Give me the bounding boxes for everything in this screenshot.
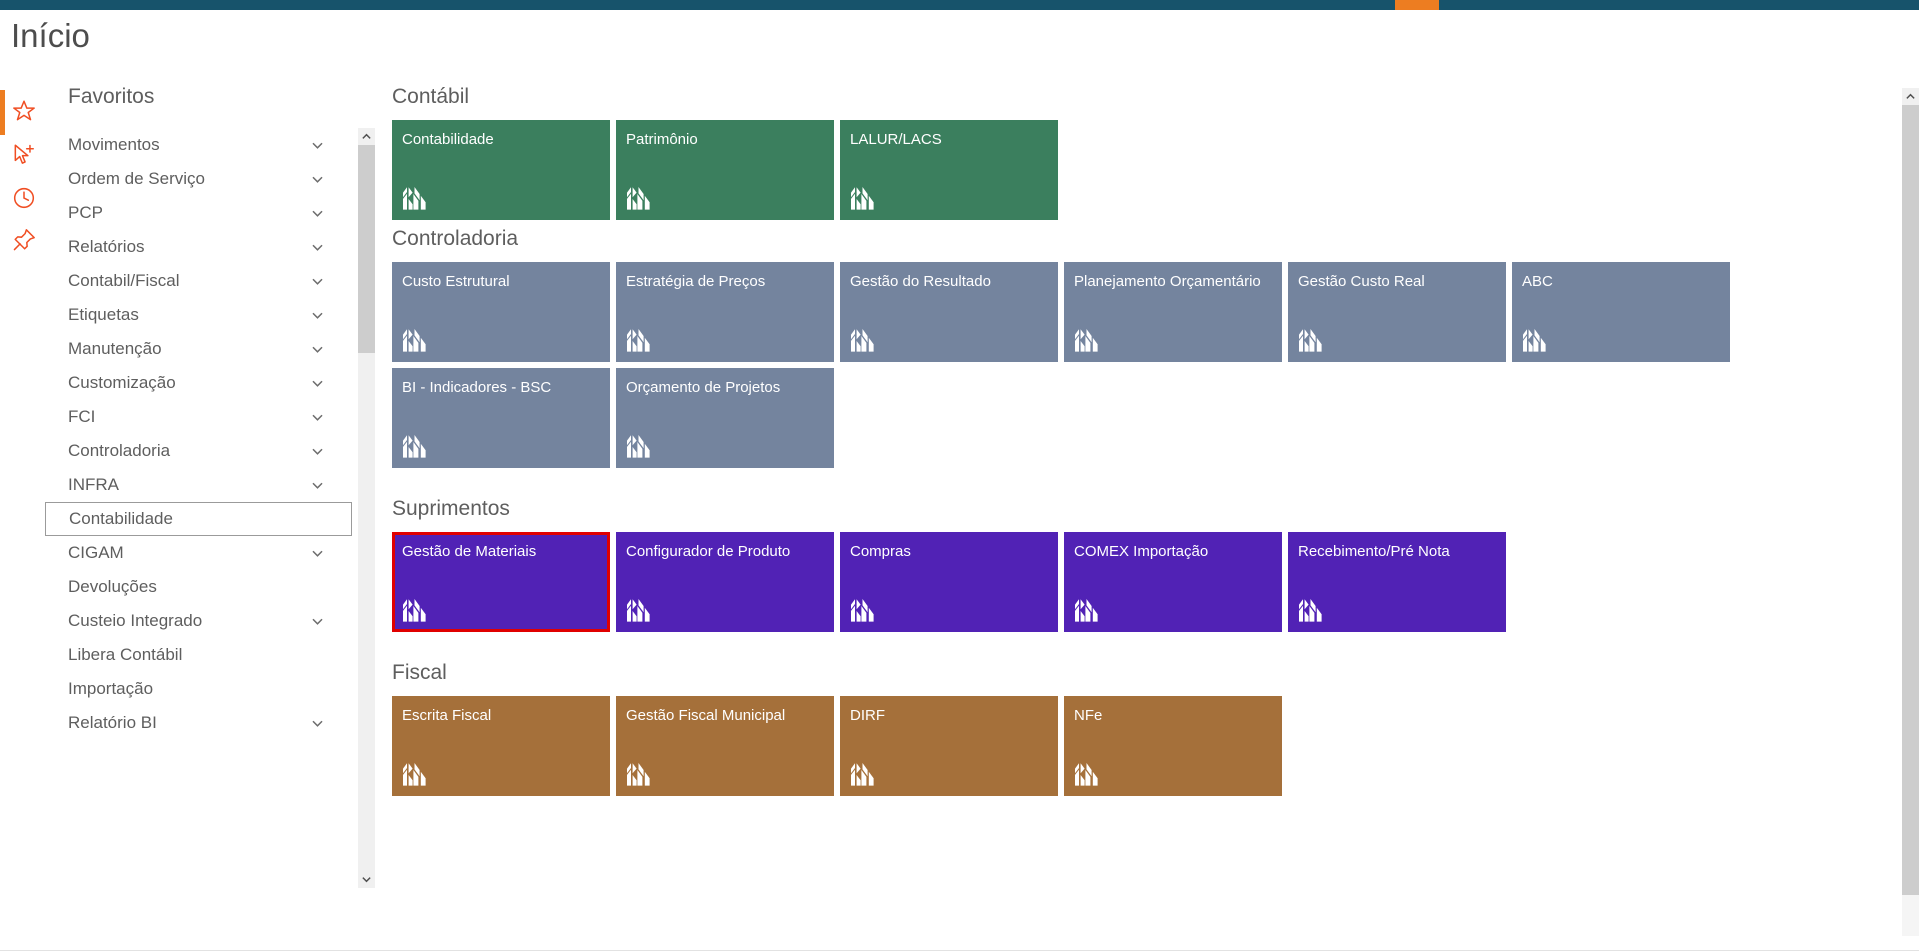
sidebar-item-movimentos[interactable]: Movimentos [45,128,352,162]
icon-rail [0,90,45,860]
tile-label: Gestão Fiscal Municipal [626,706,824,725]
sidebar-item-controladoria[interactable]: Controladoria [45,434,352,468]
cigam-logo-icon [625,326,652,353]
sidebar-item-custeio-integrado[interactable]: Custeio Integrado [45,604,352,638]
tile-estrat-gia-de-pre-os[interactable]: Estratégia de Preços [616,262,834,362]
chevron-down-icon[interactable] [358,871,375,888]
cigam-logo-icon [401,326,428,353]
tile-label: DIRF [850,706,1048,725]
sidebar-scrollbar-thumb[interactable] [358,145,375,353]
sidebar-item-label: Ordem de Serviço [68,169,311,189]
tile-planejamento-or-ament-rio[interactable]: Planejamento Orçamentário [1064,262,1282,362]
tile-recebimento-pr-nota[interactable]: Recebimento/Pré Nota [1288,532,1506,632]
sidebar-item-label: Contabilidade [69,509,310,529]
sidebar-item-ordem-de-servi-o[interactable]: Ordem de Serviço [45,162,352,196]
page-scrollbar[interactable] [1902,88,1919,936]
sidebar-item-label: Manutenção [68,339,311,359]
sidebar-item-label: Controladoria [68,441,311,461]
tile-gest-o-de-materiais[interactable]: Gestão de Materiais [392,532,610,632]
tile-comex-importa-o[interactable]: COMEX Importação [1064,532,1282,632]
tile-escrita-fiscal[interactable]: Escrita Fiscal [392,696,610,796]
cursor-plus-icon[interactable] [11,142,37,168]
tile-grid: ContabilidadePatrimônioLALUR/LACS [392,120,1882,226]
tile-area: ContábilContabilidadePatrimônioLALUR/LAC… [392,84,1882,884]
sidebar-item-label: CIGAM [68,543,311,563]
pin-icon[interactable] [11,227,37,253]
sidebar-item-label: Importação [68,679,311,699]
tile-label: Recebimento/Pré Nota [1298,542,1496,561]
sidebar-item-label: Etiquetas [68,305,311,325]
chevron-down-icon[interactable] [311,207,324,220]
tile-bi-indicadores-bsc[interactable]: BI - Indicadores - BSC [392,368,610,468]
sidebar-item-label: Relatórios [68,237,311,257]
sidebar-item-label: Contabil/Fiscal [68,271,311,291]
sidebar-item-relat-rio-bi[interactable]: Relatório BI [45,706,352,740]
tile-custo-estrutural[interactable]: Custo Estrutural [392,262,610,362]
sidebar-item-label: Devoluções [68,577,311,597]
chevron-down-icon[interactable] [311,139,324,152]
sidebar-item-importa-o[interactable]: Importação [45,672,352,706]
sidebar-item-label: Customização [68,373,311,393]
tile-label: Patrimônio [626,130,824,149]
cigam-logo-icon [625,184,652,211]
tile-contabilidade[interactable]: Contabilidade [392,120,610,220]
tile-gest-o-do-resultado[interactable]: Gestão do Resultado [840,262,1058,362]
tile-label: Planejamento Orçamentário [1074,272,1272,291]
page-title: Início [11,16,90,56]
tile-label: ABC [1522,272,1720,291]
cigam-logo-icon [1521,326,1548,353]
tile-label: LALUR/LACS [850,130,1048,149]
cigam-logo-icon [1073,596,1100,623]
tile-section-cont-bil: ContábilContabilidadePatrimônioLALUR/LAC… [392,84,1882,226]
sidebar-item-cigam[interactable]: CIGAM [45,536,352,570]
chevron-down-icon[interactable] [311,717,324,730]
sidebar-item-libera-cont-bil[interactable]: Libera Contábil [45,638,352,672]
tile-grid: Custo EstruturalEstratégia de PreçosGest… [392,262,1882,474]
tile-section-suprimentos: SuprimentosGestão de MateriaisConfigurad… [392,496,1882,638]
sidebar-scrollbar[interactable] [358,128,375,888]
sidebar-item-label: Custeio Integrado [68,611,311,631]
cigam-logo-icon [401,432,428,459]
sidebar-item-label: Relatório BI [68,713,311,733]
tile-section-controladoria: ControladoriaCusto EstruturalEstratégia … [392,226,1882,474]
sidebar-item-label: Libera Contábil [68,645,311,665]
tile-grid: Gestão de MateriaisConfigurador de Produ… [392,532,1882,638]
star-icon[interactable] [11,98,37,124]
cigam-logo-icon [625,432,652,459]
page-scrollbar-thumb[interactable] [1902,105,1919,895]
cigam-logo-icon [625,760,652,787]
cigam-logo-icon [1297,596,1324,623]
sidebar-item-label: INFRA [68,475,311,495]
tile-configurador-de-produto[interactable]: Configurador de Produto [616,532,834,632]
tile-gest-o-fiscal-municipal[interactable]: Gestão Fiscal Municipal [616,696,834,796]
tile-label: Gestão Custo Real [1298,272,1496,291]
chevron-down-icon[interactable] [311,479,324,492]
cigam-logo-icon [625,596,652,623]
chevron-up-icon[interactable] [358,128,375,145]
chevron-down-icon[interactable] [311,275,324,288]
tile-label: Estratégia de Preços [626,272,824,291]
section-title: Fiscal [392,660,1882,686]
section-title: Controladoria [392,226,1882,252]
cigam-logo-icon [401,184,428,211]
chevron-down-icon[interactable] [311,377,324,390]
tile-label: NFe [1074,706,1272,725]
sidebar-item-contabilidade[interactable]: Contabilidade [45,502,352,536]
sidebar-item-label: FCI [68,407,311,427]
clock-icon[interactable] [11,185,37,211]
tile-grid: Escrita FiscalGestão Fiscal MunicipalDIR… [392,696,1882,802]
sidebar-item-manuten-o[interactable]: Manutenção [45,332,352,366]
sidebar-item-contabil-fiscal[interactable]: Contabil/Fiscal [45,264,352,298]
sidebar-item-label: PCP [68,203,311,223]
cigam-logo-icon [1297,326,1324,353]
tile-label: Contabilidade [402,130,600,149]
chevron-down-icon[interactable] [311,547,324,560]
tile-label: Configurador de Produto [626,542,824,561]
chevron-down-icon[interactable] [311,445,324,458]
chevron-down-icon[interactable] [311,615,324,628]
tile-nfe[interactable]: NFe [1064,696,1282,796]
tile-or-amento-de-projetos[interactable]: Orçamento de Projetos [616,368,834,468]
sidebar-item-fci[interactable]: FCI [45,400,352,434]
sidebar-item-infra[interactable]: INFRA [45,468,352,502]
tile-compras[interactable]: Compras [840,532,1058,632]
sidebar: Favoritos MovimentosOrdem de ServiçoPCPR… [45,84,365,884]
chevron-down-icon[interactable] [311,241,324,254]
sidebar-item-etiquetas[interactable]: Etiquetas [45,298,352,332]
tile-label: Orçamento de Projetos [626,378,824,397]
section-title: Contábil [392,84,1882,110]
chevron-down-icon[interactable] [311,173,324,186]
tile-label: COMEX Importação [1074,542,1272,561]
cigam-logo-icon [1073,326,1100,353]
cigam-logo-icon [849,596,876,623]
chevron-down-icon[interactable] [311,343,324,356]
chevron-up-icon[interactable] [1902,88,1919,105]
cigam-logo-icon [1073,760,1100,787]
tile-label: BI - Indicadores - BSC [402,378,600,397]
cigam-logo-icon [849,326,876,353]
sidebar-item-devolu-es[interactable]: Devoluções [45,570,352,604]
tile-gest-o-custo-real[interactable]: Gestão Custo Real [1288,262,1506,362]
tile-lalur-lacs[interactable]: LALUR/LACS [840,120,1058,220]
tile-label: Gestão do Resultado [850,272,1048,291]
sidebar-item-pcp[interactable]: PCP [45,196,352,230]
cigam-logo-icon [849,184,876,211]
cigam-logo-icon [401,596,428,623]
tile-abc[interactable]: ABC [1512,262,1730,362]
tile-label: Escrita Fiscal [402,706,600,725]
tile-label: Compras [850,542,1048,561]
tile-label: Custo Estrutural [402,272,600,291]
tile-section-fiscal: FiscalEscrita FiscalGestão Fiscal Munici… [392,660,1882,802]
section-title: Suprimentos [392,496,1882,522]
sidebar-item-label: Movimentos [68,135,311,155]
sidebar-item-customiza-o[interactable]: Customização [45,366,352,400]
top-accent-bar [0,0,1919,10]
tile-label: Gestão de Materiais [402,542,600,561]
chevron-down-icon[interactable] [311,411,324,424]
tile-patrim-nio[interactable]: Patrimônio [616,120,834,220]
cigam-logo-icon [849,760,876,787]
tile-dirf[interactable]: DIRF [840,696,1058,796]
top-accent-segment [1395,0,1439,10]
chevron-down-icon[interactable] [311,309,324,322]
cigam-logo-icon [401,760,428,787]
rail-active-marker [0,90,5,135]
sidebar-heading: Favoritos [68,84,154,110]
sidebar-nav-list: MovimentosOrdem de ServiçoPCPRelatóriosC… [45,128,352,888]
sidebar-item-relat-rios[interactable]: Relatórios [45,230,352,264]
